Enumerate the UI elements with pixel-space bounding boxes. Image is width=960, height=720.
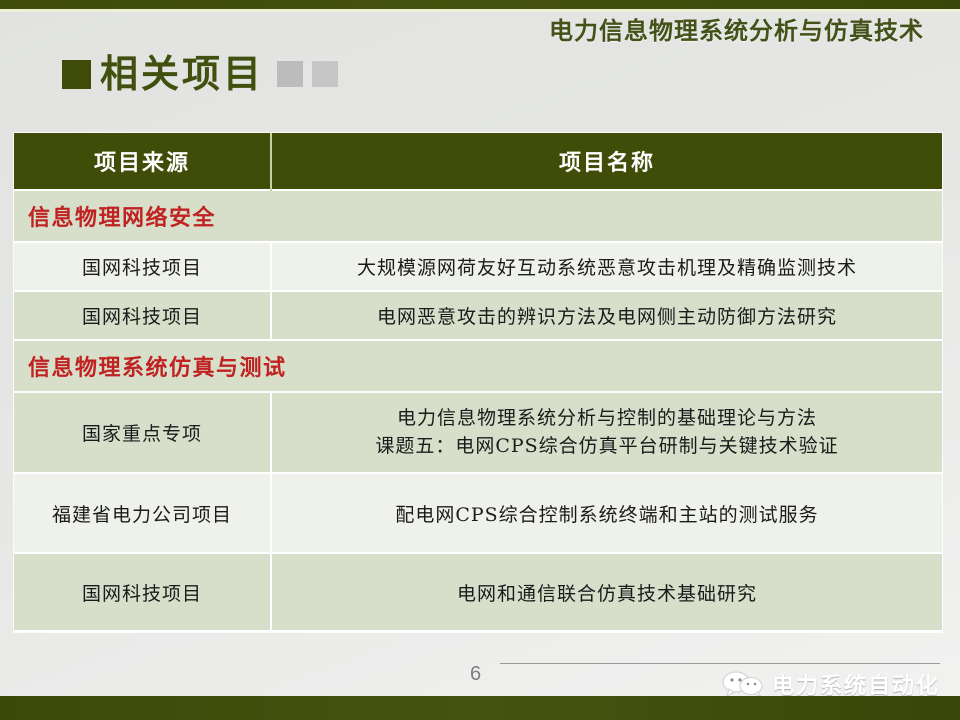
column-header-source: 项目来源 xyxy=(14,133,271,190)
bottom-decorative-bar xyxy=(0,696,960,720)
cell-source: 国网科技项目 xyxy=(14,291,271,340)
cell-name-line1: 电力信息物理系统分析与控制的基础理论与方法 xyxy=(272,405,942,433)
cell-name: 电力信息物理系统分析与控制的基础理论与方法 课题五：电网CPS综合仿真平台研制与… xyxy=(271,392,942,473)
table-header-row: 项目来源 项目名称 xyxy=(14,133,942,190)
section-label: 信息物理系统仿真与测试 xyxy=(14,340,942,392)
cell-source: 国家重点专项 xyxy=(14,392,271,473)
cell-name: 配电网CPS综合控制系统终端和主站的测试服务 xyxy=(271,473,942,553)
table-row: 国家重点专项 电力信息物理系统分析与控制的基础理论与方法 课题五：电网CPS综合… xyxy=(14,392,942,473)
page-number: 6 xyxy=(470,663,481,686)
footer-divider xyxy=(500,663,940,664)
presentation-header-title: 电力信息物理系统分析与仿真技术 xyxy=(549,11,924,46)
cell-name-line2: 课题五：电网CPS综合仿真平台研制与关键技术验证 xyxy=(272,433,942,461)
decor-square-icon-1 xyxy=(277,61,303,87)
table-row: 国网科技项目 电网恶意攻击的辨识方法及电网侧主动防御方法研究 xyxy=(14,291,942,340)
table-section-row: 信息物理网络安全 xyxy=(14,190,942,242)
section-label: 信息物理网络安全 xyxy=(14,190,942,242)
slide-title-row: 相关项目 xyxy=(62,55,338,93)
cell-source: 国网科技项目 xyxy=(14,553,271,631)
table-row: 国网科技项目 电网和通信联合仿真技术基础研究 xyxy=(14,553,942,631)
cell-source: 国网科技项目 xyxy=(14,242,271,291)
wechat-icon xyxy=(722,671,764,697)
decor-square-icon-2 xyxy=(312,61,338,87)
column-header-name: 项目名称 xyxy=(271,133,942,190)
page-title: 相关项目 xyxy=(100,55,264,93)
top-decorative-bar xyxy=(0,0,960,9)
filled-square-icon xyxy=(62,60,91,89)
cell-name: 大规模源网荷友好互动系统恶意攻击机理及精确监测技术 xyxy=(271,242,942,291)
cell-name: 电网和通信联合仿真技术基础研究 xyxy=(271,553,942,631)
projects-table: 项目来源 项目名称 信息物理网络安全 国网科技项目 大规模源网荷友好互动系统恶意… xyxy=(14,133,942,632)
cell-source: 福建省电力公司项目 xyxy=(14,473,271,553)
table-row: 国网科技项目 大规模源网荷友好互动系统恶意攻击机理及精确监测技术 xyxy=(14,242,942,291)
cell-name: 电网恶意攻击的辨识方法及电网侧主动防御方法研究 xyxy=(271,291,942,340)
table-row: 福建省电力公司项目 配电网CPS综合控制系统终端和主站的测试服务 xyxy=(14,473,942,553)
table-section-row: 信息物理系统仿真与测试 xyxy=(14,340,942,392)
